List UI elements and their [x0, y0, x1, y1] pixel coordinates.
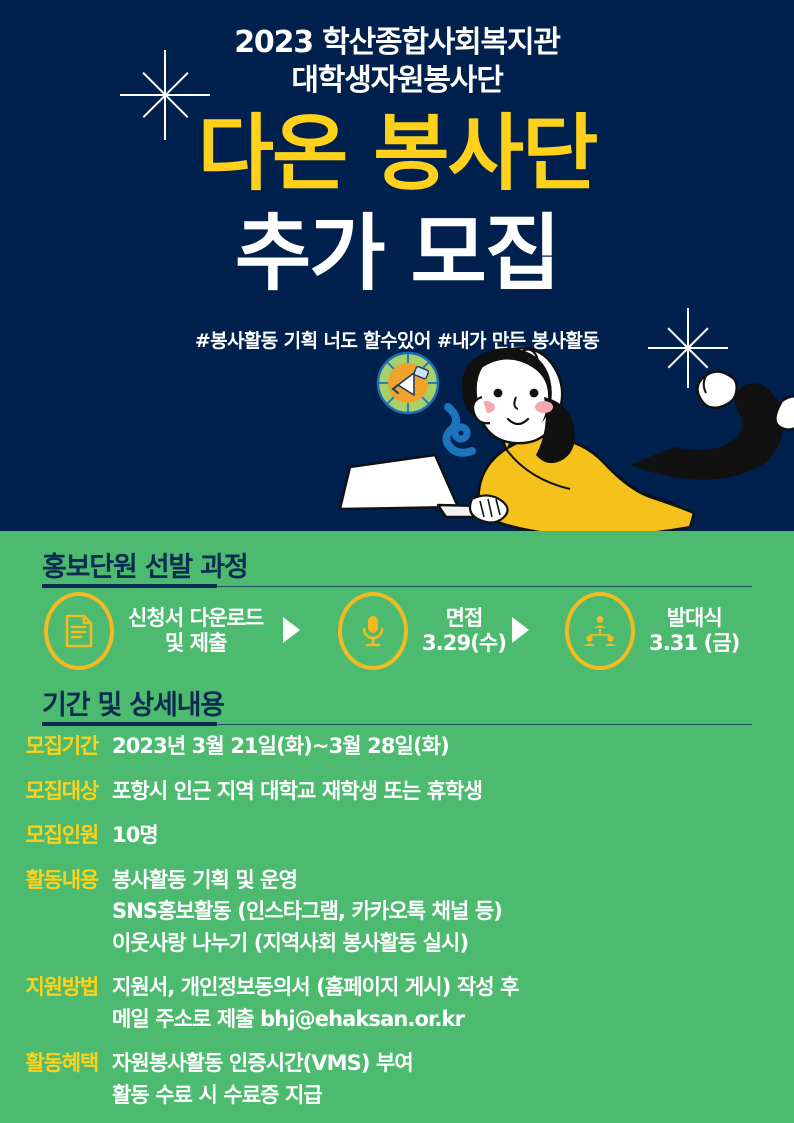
- details-heading-underline: [42, 722, 217, 726]
- step-label-line1: 신청서 다운로드: [128, 606, 263, 631]
- student-laptop-illustration: [330, 345, 794, 531]
- legs-illustration: [630, 371, 794, 480]
- step-label-line2: 3.29(수): [422, 631, 506, 656]
- step-label-line2: 3.31 (금): [649, 631, 739, 656]
- megaphone-globe-icon: [378, 353, 438, 413]
- detail-row-line: 포항시 인근 지역 대학교 재학생 또는 휴학생: [112, 776, 482, 808]
- detail-row-line: 활동 수료 시 수료증 지급: [112, 1080, 413, 1112]
- detail-row-label: 모집대상: [0, 776, 98, 808]
- microphone-icon-circle: [338, 592, 408, 670]
- detail-row: 모집인원10명: [0, 820, 794, 852]
- group-icon: [583, 615, 617, 647]
- hero-subtitle-line2: 대학생자원봉사단: [0, 62, 794, 100]
- step-arrow-2: [512, 617, 529, 643]
- hero-section: 2023 학산종합사회복지관 대학생자원봉사단 다온 봉사단 추가 모집 #봉사…: [0, 0, 794, 531]
- group-icon-circle: [565, 592, 635, 670]
- hero-title-main: 다온 봉사단: [0, 112, 794, 195]
- process-step-label: 발대식 3.31 (금): [649, 606, 739, 656]
- detail-row-label: 활동혜택: [0, 1048, 98, 1080]
- process-heading-rule: [217, 586, 752, 587]
- step-label-line2: 및 제출: [128, 631, 263, 656]
- content-section: 홍보단원 선발 과정 신청서 다운로드 및 제출: [0, 531, 794, 1123]
- process-step-application: 신청서 다운로드 및 제출: [44, 588, 263, 674]
- process-step-ceremony: 발대식 3.31 (금): [565, 588, 739, 674]
- detail-row: 모집대상포항시 인근 지역 대학교 재학생 또는 휴학생: [0, 776, 794, 808]
- details-list: 모집기간2023년 3월 21일(화)~3월 28일(화)모집대상포항시 인근 …: [0, 731, 794, 1123]
- process-heading: 홍보단원 선발 과정: [42, 545, 248, 584]
- detail-row-line: 자원봉사활동 인증시간(VMS) 부여: [112, 1048, 413, 1080]
- detail-row-label: 모집기간: [0, 731, 98, 763]
- step-label-line1: 면접: [422, 606, 506, 631]
- detail-row-line: 10명: [112, 820, 158, 852]
- detail-row-line: 지원서, 개인정보동의서 (홈페이지 게시) 작성 후: [112, 972, 519, 1004]
- detail-row-value: 지원서, 개인정보동의서 (홈페이지 게시) 작성 후메일 주소로 제출 bhj…: [112, 972, 519, 1035]
- detail-row-value: 자원봉사활동 인증시간(VMS) 부여활동 수료 시 수료증 지급: [112, 1048, 413, 1111]
- detail-row: 활동내용봉사활동 기획 및 운영SNS홍보활동 (인스타그램, 카카오톡 채널 …: [0, 865, 794, 960]
- details-heading: 기간 및 상세내용: [42, 683, 224, 722]
- process-step-interview: 면접 3.29(수): [338, 588, 506, 674]
- detail-row-line: 봉사활동 기획 및 운영: [112, 865, 502, 897]
- detail-row-value: 포항시 인근 지역 대학교 재학생 또는 휴학생: [112, 776, 482, 808]
- detail-row: 모집기간2023년 3월 21일(화)~3월 28일(화): [0, 731, 794, 763]
- process-steps: 신청서 다운로드 및 제출 면접 3.29(수): [0, 588, 794, 674]
- document-icon-circle: [44, 592, 114, 670]
- process-step-label: 신청서 다운로드 및 제출: [128, 606, 263, 656]
- detail-row-value: 2023년 3월 21일(화)~3월 28일(화): [112, 731, 449, 763]
- hero-subtitle: 2023 학산종합사회복지관 대학생자원봉사단: [0, 24, 794, 101]
- detail-row-label: 지원방법: [0, 972, 98, 1004]
- poster: 2023 학산종합사회복지관 대학생자원봉사단 다온 봉사단 추가 모집 #봉사…: [0, 0, 794, 1123]
- step-label-line1: 발대식: [649, 606, 739, 631]
- detail-row-label: 활동내용: [0, 865, 98, 897]
- detail-row-value: 10명: [112, 820, 158, 852]
- step-arrow-1: [283, 617, 300, 643]
- hero-subtitle-line1: 2023 학산종합사회복지관: [0, 24, 794, 62]
- document-icon: [64, 614, 94, 648]
- hero-title-second: 추가 모집: [0, 212, 794, 295]
- detail-row: 활동혜택자원봉사활동 인증시간(VMS) 부여활동 수료 시 수료증 지급: [0, 1048, 794, 1111]
- process-step-label: 면접 3.29(수): [422, 606, 506, 656]
- detail-row-line: 2023년 3월 21일(화)~3월 28일(화): [112, 731, 449, 763]
- detail-row-value: 봉사활동 기획 및 운영SNS홍보활동 (인스타그램, 카카오톡 채널 등)이웃…: [112, 865, 502, 960]
- detail-row-line: SNS홍보활동 (인스타그램, 카카오톡 채널 등): [112, 896, 502, 928]
- detail-row-line: 이웃사랑 나누기 (지역사회 봉사활동 실시): [112, 928, 502, 960]
- detail-row-label: 모집인원: [0, 820, 98, 852]
- microphone-icon: [360, 614, 386, 648]
- details-heading-rule: [217, 724, 752, 725]
- detail-row-line: 메일 주소로 제출 bhj@ehaksan.or.kr: [112, 1004, 519, 1036]
- detail-row: 지원방법지원서, 개인정보동의서 (홈페이지 게시) 작성 후메일 주소로 제출…: [0, 972, 794, 1035]
